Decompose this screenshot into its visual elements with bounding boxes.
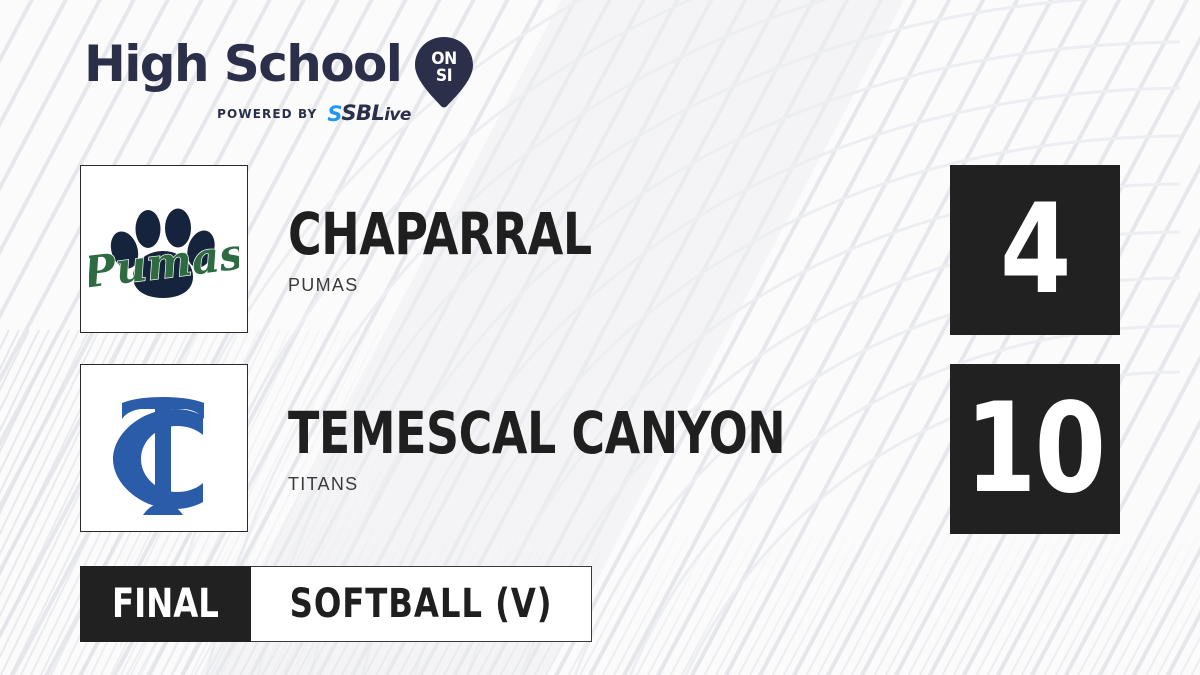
team-row: Pumas CHAPARRAL PUMAS 4: [80, 165, 1120, 335]
team-name: TEMESCAL CANYON: [288, 404, 785, 462]
team-score: 10: [965, 387, 1104, 511]
status-badge: FINAL: [80, 566, 251, 642]
status-bar: FINAL SOFTBALL (V): [80, 566, 592, 642]
status-state-label: FINAL: [112, 584, 219, 624]
sport-label: SOFTBALL (V): [289, 584, 552, 624]
brand-wordmark: High School: [84, 38, 401, 90]
tc-monogram-titans-logo: [89, 373, 239, 523]
svg-text:Pumas: Pumas: [89, 229, 239, 299]
team-mascot: TITANS: [288, 474, 853, 495]
team-name: CHAPARRAL: [288, 205, 592, 263]
sblive-s-icon: S: [327, 104, 341, 125]
sblive-wordmark-lower: ive: [384, 105, 411, 125]
team-score: 4: [1000, 188, 1070, 312]
brand-logo-row: High School ON SI: [84, 38, 514, 96]
scoreboard-graphic: High School ON SI POWERED BY S SBLive: [0, 0, 1200, 675]
team-score-box: 10: [950, 364, 1120, 534]
paw-print-pumas-logo: Pumas: [89, 174, 239, 324]
sblive-logo: S SBLive: [327, 103, 410, 126]
team-mascot: PUMAS: [288, 275, 633, 296]
team-identity: TEMESCAL CANYON TITANS: [288, 364, 853, 534]
location-pin-icon: ON SI: [413, 35, 475, 109]
powered-by-label: POWERED BY: [217, 107, 317, 121]
svg-text:SI: SI: [436, 65, 452, 85]
team-logo-box: [80, 364, 248, 532]
sblive-wordmark-upper: SBL: [341, 101, 384, 125]
sport-label-box: SOFTBALL (V): [251, 566, 592, 642]
team-score-box: 4: [950, 165, 1120, 335]
team-logo-box: Pumas: [80, 165, 248, 333]
sblive-wordmark: SBLive: [341, 103, 410, 126]
team-identity: CHAPARRAL PUMAS: [288, 165, 633, 335]
team-row: TEMESCAL CANYON TITANS 10: [80, 364, 1120, 534]
brand-header: High School ON SI POWERED BY S SBLive: [84, 38, 514, 123]
